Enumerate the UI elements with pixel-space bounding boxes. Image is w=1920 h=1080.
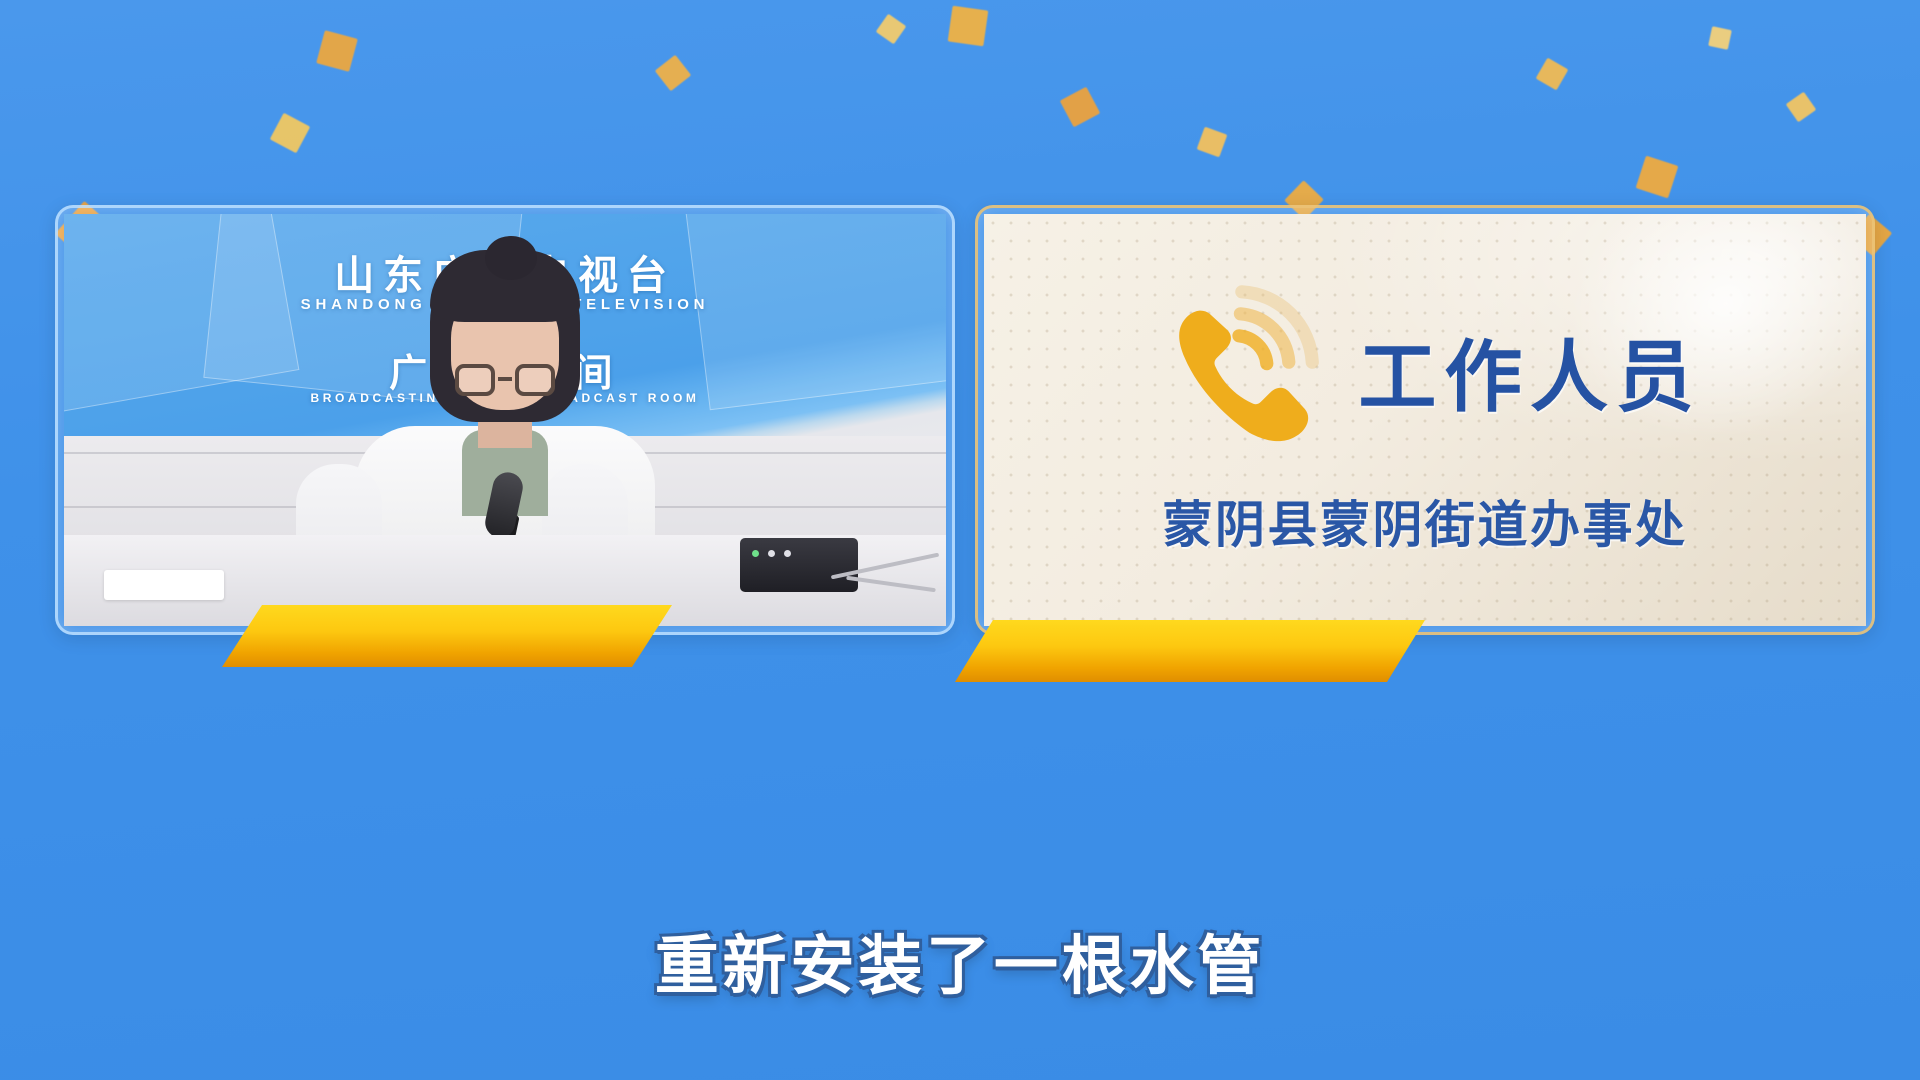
caller-card-panel[interactable]: 工作人员 蒙阴县蒙阴街道办事处	[975, 205, 1875, 635]
right-name-banner	[955, 620, 1425, 682]
left-name-banner-fill	[222, 605, 672, 667]
confetti-piece	[1708, 26, 1732, 50]
device-cable	[846, 576, 936, 592]
device-led	[784, 550, 791, 557]
caller-card-content: 工作人员 蒙阴县蒙阴街道办事处	[984, 214, 1866, 626]
subtitle-caption: 重新安装了一根水管	[0, 915, 1920, 1007]
phone-call-icon	[1148, 283, 1324, 459]
device-led	[752, 550, 759, 557]
confetti-piece	[876, 14, 907, 45]
video-feed-inner: 山东广播电视台 SHANDONG RADIO AND TELEVISION 广播…	[64, 214, 946, 626]
confetti-piece	[655, 55, 691, 91]
caller-organization: 蒙阴县蒙阴街道办事处	[1163, 485, 1688, 557]
caller-card-inner: 工作人员 蒙阴县蒙阴街道办事处	[984, 214, 1866, 626]
caller-role-title: 工作人员	[1358, 315, 1701, 427]
left-name-banner	[222, 605, 672, 667]
device-led	[768, 550, 775, 557]
broadcast-graphic-stage: 山东广播电视台 SHANDONG RADIO AND TELEVISION 广播…	[0, 0, 1920, 1080]
confetti-piece	[948, 6, 989, 47]
right-name-banner-fill	[955, 620, 1425, 682]
caller-title-row: 工作人员	[1148, 283, 1701, 459]
presenter-hair-bun	[485, 236, 537, 280]
confetti-piece	[1060, 87, 1101, 128]
confetti-piece	[316, 30, 358, 72]
presenter-glasses-left	[455, 364, 495, 396]
confetti-piece	[1536, 58, 1569, 91]
confetti-piece	[1636, 156, 1679, 199]
confetti-piece	[1197, 127, 1228, 158]
presenter-glasses-right	[515, 364, 555, 396]
confetti-piece	[270, 113, 311, 154]
presenter-glasses-bridge	[498, 377, 512, 381]
audio-mixer-device	[740, 538, 858, 592]
desk-paper	[104, 570, 224, 600]
video-feed-panel[interactable]: 山东广播电视台 SHANDONG RADIO AND TELEVISION 广播…	[55, 205, 955, 635]
confetti-piece	[1786, 92, 1817, 123]
